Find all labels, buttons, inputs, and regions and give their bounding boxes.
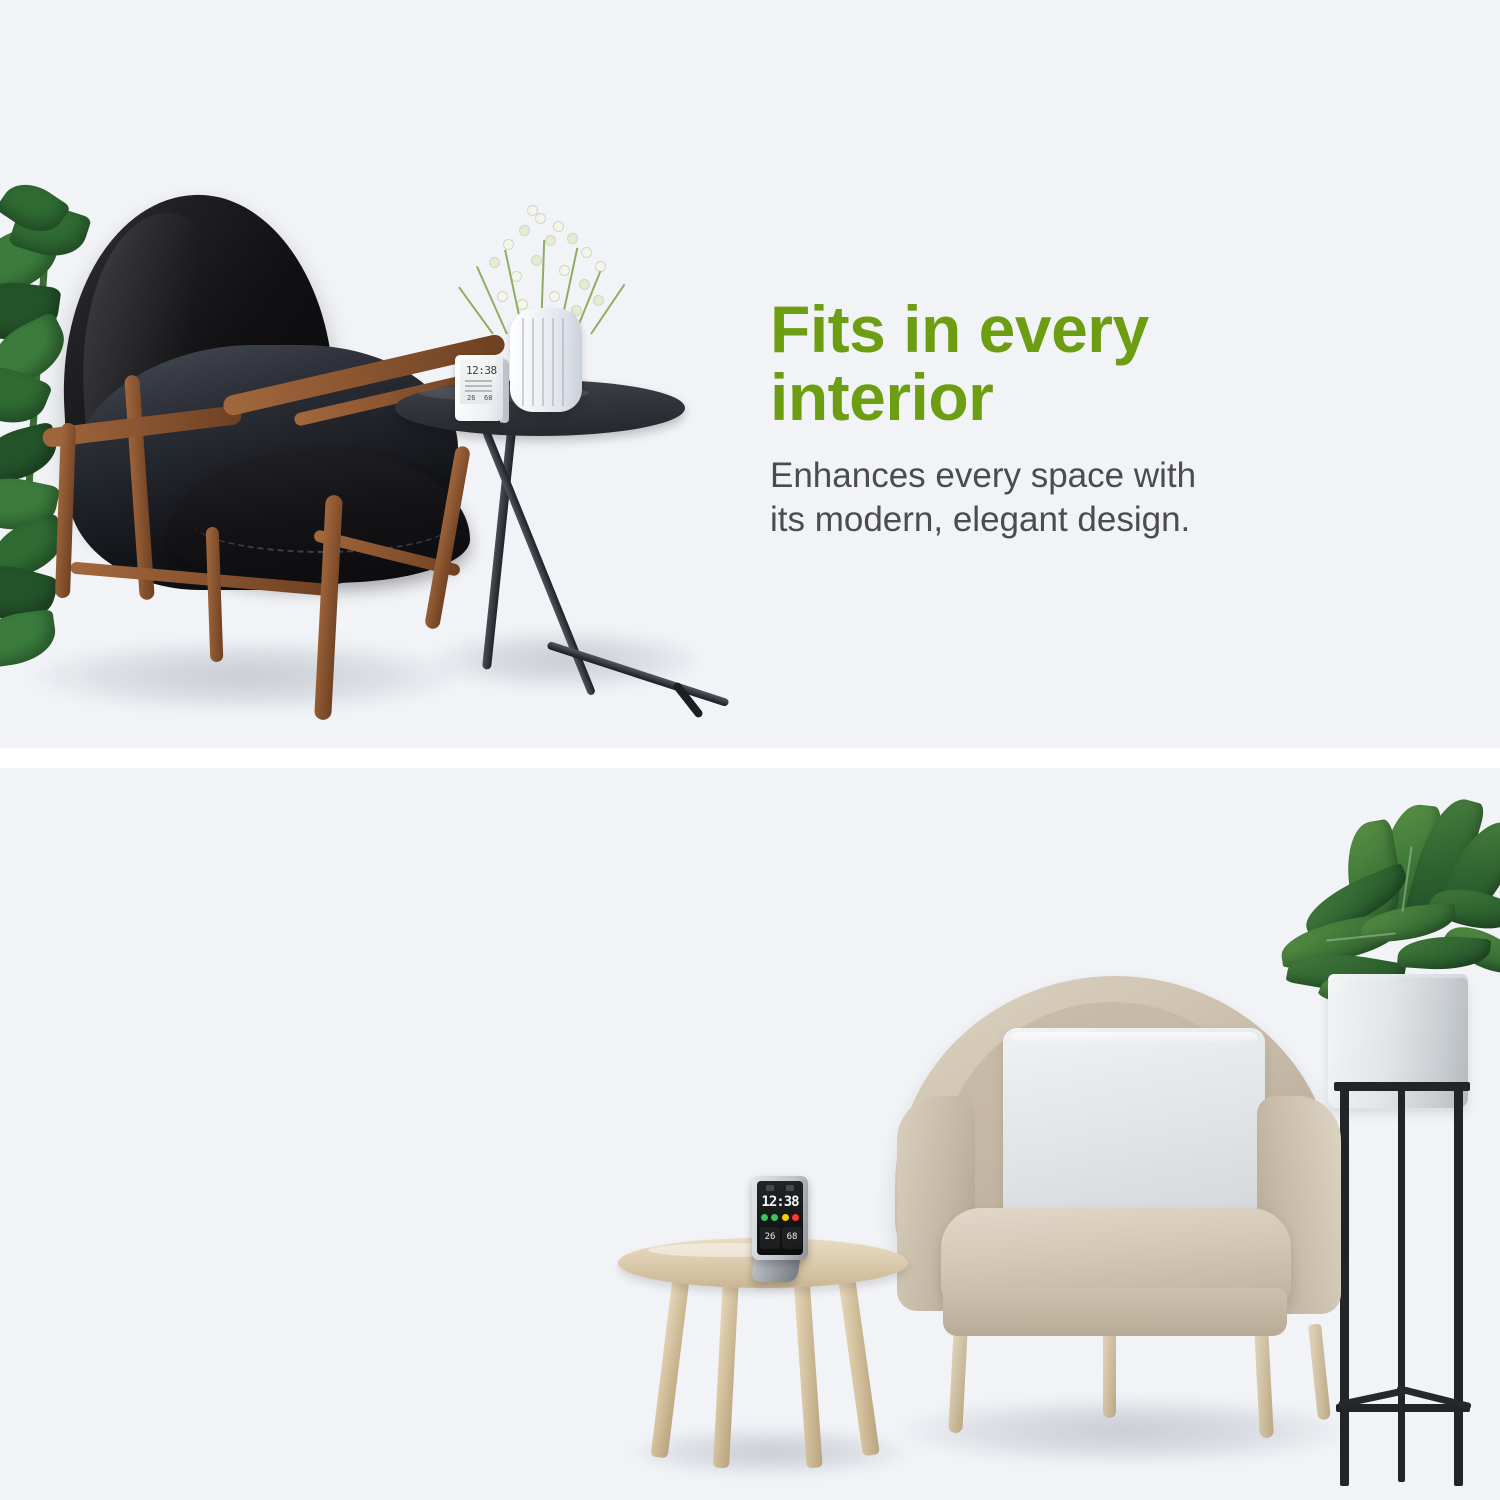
wood-table-leg-4 — [837, 1270, 880, 1457]
black-leather-lounge-chair-scene: 12:38 26 68 — [0, 0, 760, 748]
beige-barrel-armchair — [885, 976, 1355, 1446]
indicator-dot-2 — [771, 1214, 778, 1221]
device-time-readout: 12:38 — [757, 1194, 803, 1210]
device-reading-box-right: 68 — [782, 1227, 802, 1249]
device-status-icon-left — [766, 1185, 774, 1191]
device-body: 12:38 26 68 — [455, 355, 503, 421]
panel-1-text-block: Fits in every interior Enhances every sp… — [770, 296, 1330, 542]
armchair-leg-center — [1103, 1328, 1116, 1418]
indicator-dot-3 — [782, 1214, 789, 1221]
beige-armchair-scene: 12:38 26 68 — [0, 768, 1500, 1500]
indicator-dot-1 — [761, 1214, 768, 1221]
light-gray-throw-pillow — [1003, 1028, 1265, 1228]
white-ribbed-vase — [510, 308, 582, 412]
device-time-readout: 12:38 — [466, 364, 497, 377]
dark-lcd-air-quality-monitor: 12:38 26 68 — [752, 1176, 810, 1288]
round-dark-side-table — [395, 380, 695, 710]
table-leg-curved — [546, 641, 729, 707]
device-status-icon-right — [786, 1185, 794, 1191]
armchair-leg-back-right — [1308, 1324, 1331, 1421]
stand-post-mid — [1398, 1086, 1405, 1482]
wood-table-leg-3 — [793, 1276, 822, 1469]
device-indicator-dots — [761, 1214, 799, 1221]
device-lcd-screen: 12:38 26 68 — [460, 360, 496, 404]
device-lcd-screen: 12:38 26 68 — [757, 1181, 803, 1255]
white-air-quality-monitor: 12:38 26 68 — [455, 355, 509, 427]
indicator-dot-4 — [792, 1214, 799, 1221]
panel-clear-lcd-screen: 12:38 26 68 — [0, 768, 1500, 1500]
device-frame: 12:38 26 68 — [752, 1176, 808, 1260]
armchair-leg-front-left — [948, 1328, 967, 1434]
panel-divider — [0, 748, 1500, 768]
device-reading-right: 68 — [484, 394, 492, 402]
product-feature-image: 12:38 26 68 Fits in every interior Enhan… — [0, 0, 1500, 1500]
wood-table-leg-1 — [651, 1270, 691, 1459]
device-reading-right: 68 — [782, 1232, 802, 1242]
panel-1-headline: Fits in every interior — [770, 296, 1330, 432]
wood-table-leg-2 — [713, 1276, 739, 1469]
panel-1-subtext: Enhances every space with its modern, el… — [770, 454, 1330, 542]
device-reading-left: 26 — [467, 394, 475, 402]
device-reading-left: 26 — [760, 1232, 780, 1242]
device-reading-box-left: 26 — [760, 1227, 780, 1249]
panel-fits-in-every-interior: 12:38 26 68 Fits in every interior Enhan… — [0, 0, 1500, 748]
armchair-leg-front-right — [1254, 1328, 1274, 1439]
stand-post-right — [1454, 1086, 1463, 1486]
armchair-base-skirt — [943, 1288, 1287, 1336]
